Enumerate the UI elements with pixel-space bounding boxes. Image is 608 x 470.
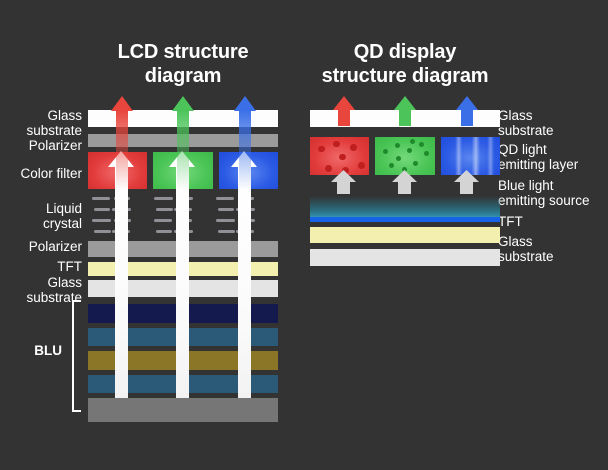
qd-output-arrow-red — [338, 96, 350, 126]
arrow-shaft — [239, 110, 251, 190]
liquid-crystal-molecule — [94, 230, 111, 233]
liquid-crystal-molecule — [218, 208, 234, 211]
lcd-label-blu: BLU — [0, 343, 62, 358]
qd-layer-glass-substrate-bottom — [310, 249, 500, 266]
lcd-label-polarizer-bottom: Polarizer — [0, 239, 82, 254]
lcd-white-beam-red-channel — [115, 166, 128, 398]
liquid-crystal-molecule — [216, 219, 235, 222]
arrow-shaft — [460, 181, 473, 194]
lcd-label-tft: TFT — [0, 259, 82, 274]
liquid-crystal-molecule — [92, 197, 110, 200]
quantum-dot — [358, 162, 365, 169]
diagram-canvas: LCD structure diagram QD display structu… — [0, 0, 608, 470]
lcd-label-liquid-crystal: Liquid crystal — [0, 201, 82, 231]
liquid-crystal-molecule — [216, 197, 234, 200]
qd-label-blue-light-emitting-source: Blue light emitting source — [498, 178, 608, 208]
liquid-crystal-molecule — [94, 208, 110, 211]
quantum-dot — [383, 149, 388, 154]
quantum-dot — [318, 146, 325, 153]
lcd-label-glass-substrate-top: Glass substrate — [0, 108, 82, 138]
arrow-head-icon — [456, 96, 478, 110]
qd-diagram-title: QD display structure diagram — [310, 40, 500, 89]
lcd-white-beam-blue-channel — [238, 166, 251, 398]
liquid-crystal-molecule — [156, 230, 172, 233]
quantum-dot — [413, 161, 418, 166]
arrow-shaft — [337, 181, 350, 194]
quantum-dot — [333, 141, 340, 148]
quantum-dot — [407, 148, 412, 153]
liquid-crystal-molecule — [92, 219, 111, 222]
liquid-crystal-molecule — [218, 230, 235, 233]
quantum-dot — [419, 142, 424, 147]
qd-output-arrow-green — [399, 96, 411, 126]
qd-blue-emission-line — [310, 217, 500, 222]
qd-output-arrow-blue — [461, 96, 473, 126]
arrow-head-icon — [234, 96, 256, 111]
liquid-crystal-molecule — [154, 197, 173, 200]
qd-layer-stack — [310, 110, 500, 245]
qd-layer-tft — [310, 227, 500, 243]
lcd-output-arrow-red — [116, 96, 128, 190]
arrow-head-icon — [333, 96, 355, 110]
lcd-output-arrow-green — [177, 96, 189, 190]
arrow-head-icon — [394, 96, 416, 110]
lcd-label-polarizer-top: Polarizer — [0, 138, 82, 153]
quantum-dot — [325, 165, 332, 172]
qd-pump-arrow-blue-cell — [460, 170, 473, 194]
arrow-shaft — [116, 110, 128, 190]
quantum-dot — [395, 143, 400, 148]
lcd-white-beam-green-channel — [176, 166, 189, 398]
lcd-label-glass-substrate-bottom: Glass substrate — [0, 275, 82, 305]
qd-label-qd-light-emitting-layer: QD light emitting layer — [498, 142, 608, 172]
quantum-dot — [396, 156, 401, 161]
quantum-dot — [350, 144, 357, 151]
arrow-shaft — [399, 109, 411, 126]
quantum-dot — [339, 154, 346, 161]
liquid-crystal-molecule — [156, 208, 173, 211]
arrow-shaft — [398, 181, 411, 194]
quantum-dot — [410, 139, 415, 144]
lcd-layer-stack — [88, 110, 278, 412]
liquid-crystal-molecule — [154, 219, 172, 222]
qd-pump-arrow-red-cell — [337, 170, 350, 194]
qd-label-tft: TFT — [498, 214, 608, 229]
lcd-output-arrow-blue — [239, 96, 251, 190]
lcd-diagram-title: LCD structure diagram — [88, 40, 278, 89]
arrow-shaft — [338, 109, 350, 126]
quantum-dot — [424, 151, 429, 156]
lcd-label-color-filter: Color filter — [0, 166, 82, 181]
blu-layer-reflector — [88, 398, 278, 422]
qd-label-glass-substrate-bottom: Glass substrate — [498, 234, 608, 264]
qd-pump-arrow-green-cell — [398, 170, 411, 194]
arrow-head-icon — [111, 96, 133, 111]
quantum-dot — [389, 163, 394, 168]
blu-bracket — [72, 300, 81, 412]
arrow-shaft — [461, 109, 473, 126]
arrow-shaft — [177, 110, 189, 190]
arrow-head-icon — [172, 96, 194, 111]
qd-layer-blue-light-emitting-source — [310, 196, 500, 218]
qd-label-glass-substrate-top: Glass substrate — [498, 108, 608, 138]
